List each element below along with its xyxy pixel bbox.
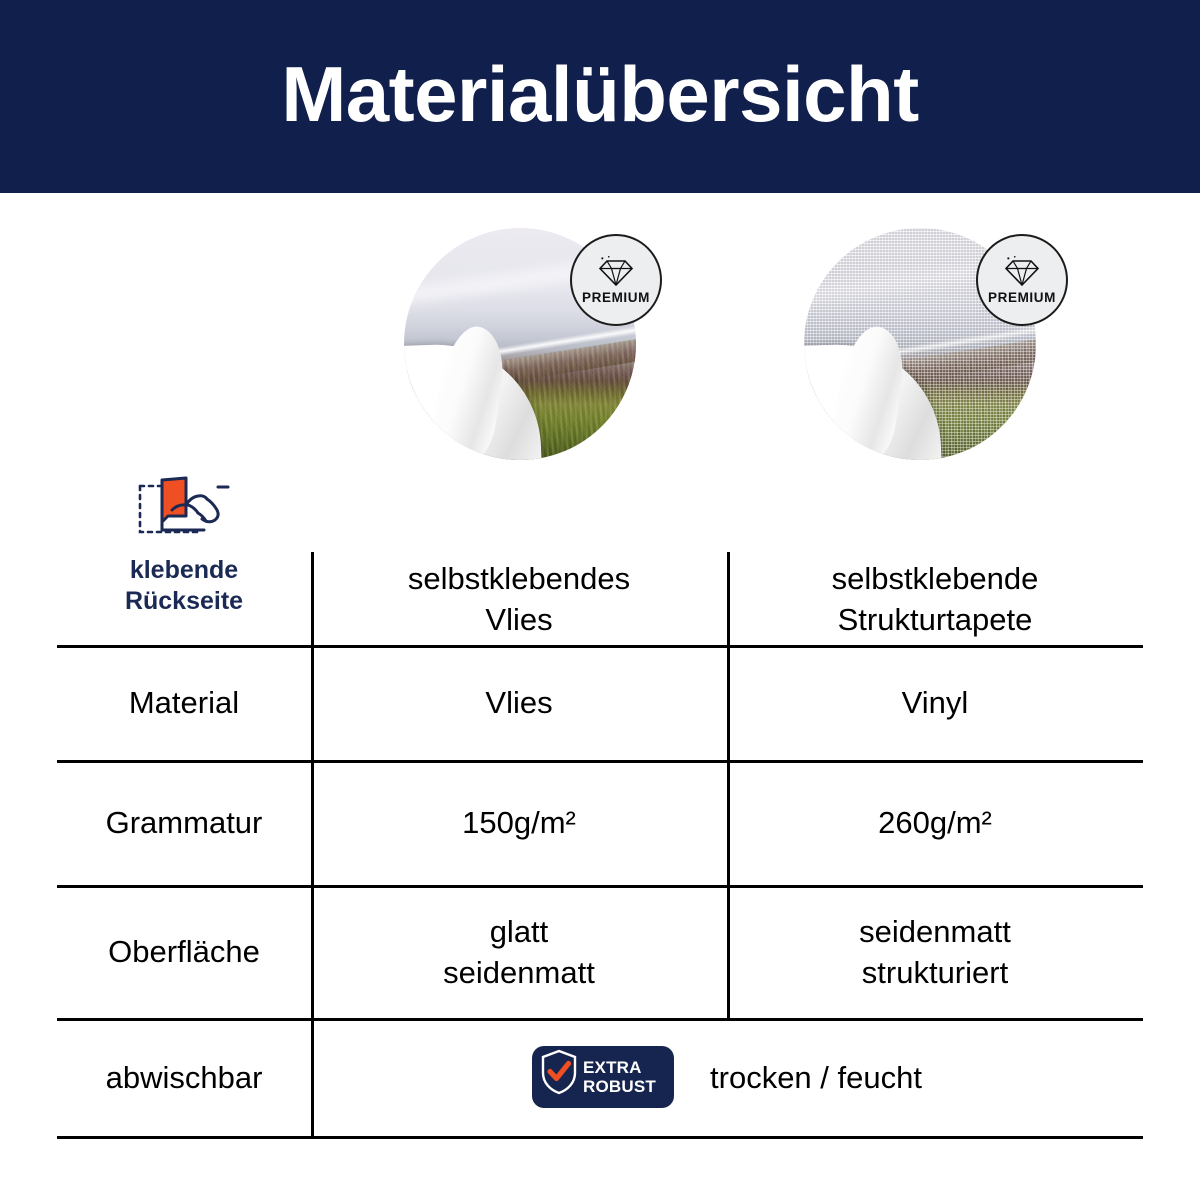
cell-text-line2: Vlies bbox=[408, 599, 630, 640]
extra-robust-line2: ROBUST bbox=[583, 1077, 656, 1096]
table-row: Oberfläche glatt seidenmatt seidenmatt s… bbox=[57, 885, 1143, 1018]
table-cell-label: Oberfläche bbox=[57, 885, 311, 1018]
table-row: abwischbar EXTRA ROBUST bbox=[57, 1018, 1143, 1136]
table-cell-vlies: selbstklebendes Vlies bbox=[311, 552, 727, 645]
shield-check-icon bbox=[540, 1049, 578, 1105]
header-band: Materialübersicht bbox=[0, 0, 1200, 193]
extra-robust-line1: EXTRA bbox=[583, 1058, 656, 1077]
diamond-icon bbox=[596, 255, 636, 290]
table-row: Material Vlies Vinyl bbox=[57, 645, 1143, 760]
premium-badge-label: PREMIUM bbox=[582, 290, 650, 305]
table-cell-wipeable: EXTRA ROBUST trocken / feucht bbox=[311, 1018, 1143, 1136]
premium-badge-vlies: PREMIUM bbox=[570, 234, 662, 326]
table-rule bbox=[57, 1136, 1143, 1139]
table-cell-label: Grammatur bbox=[57, 760, 311, 885]
table-cell-strukturtapete: seidenmatt strukturiert bbox=[727, 885, 1143, 1018]
table-row: selbstklebendes Vlies selbstklebende Str… bbox=[57, 552, 1143, 645]
table-cell-label: abwischbar bbox=[57, 1018, 311, 1136]
cell-text-line1: glatt bbox=[443, 911, 595, 952]
cell-text-line1: seidenmatt bbox=[859, 911, 1011, 952]
page-title: Materialübersicht bbox=[0, 44, 1200, 144]
peel-hand-icon bbox=[57, 470, 311, 547]
table-cell-strukturtapete: Vinyl bbox=[727, 645, 1143, 760]
extra-robust-badge: EXTRA ROBUST bbox=[532, 1046, 674, 1108]
table-cell-strukturtapete: 260g/m² bbox=[727, 760, 1143, 885]
cell-text-line2: seidenmatt bbox=[443, 952, 595, 993]
cell-text-line2: strukturiert bbox=[859, 952, 1011, 993]
cell-text-line1: selbstklebendes bbox=[408, 558, 630, 599]
table-cell-label: Material bbox=[57, 645, 311, 760]
cell-text-line2: Strukturtapete bbox=[832, 599, 1039, 640]
table-cell-label bbox=[57, 552, 311, 645]
premium-badge-label: PREMIUM bbox=[988, 290, 1056, 305]
material-overview-page: Materialübersicht PREMIUM bbox=[0, 0, 1200, 1200]
table-cell-vlies: glatt seidenmatt bbox=[311, 885, 727, 1018]
premium-badge-strukturtapete: PREMIUM bbox=[976, 234, 1068, 326]
wipeable-value: trocken / feucht bbox=[710, 1057, 922, 1098]
extra-robust-label: EXTRA ROBUST bbox=[583, 1058, 656, 1096]
table-row: Grammatur 150g/m² 260g/m² bbox=[57, 760, 1143, 885]
table-cell-vlies: Vlies bbox=[311, 645, 727, 760]
table-cell-strukturtapete: selbstklebende Strukturtapete bbox=[727, 552, 1143, 645]
cell-text-line1: selbstklebende bbox=[832, 558, 1039, 599]
diamond-icon bbox=[1002, 255, 1042, 290]
table-cell-vlies: 150g/m² bbox=[311, 760, 727, 885]
